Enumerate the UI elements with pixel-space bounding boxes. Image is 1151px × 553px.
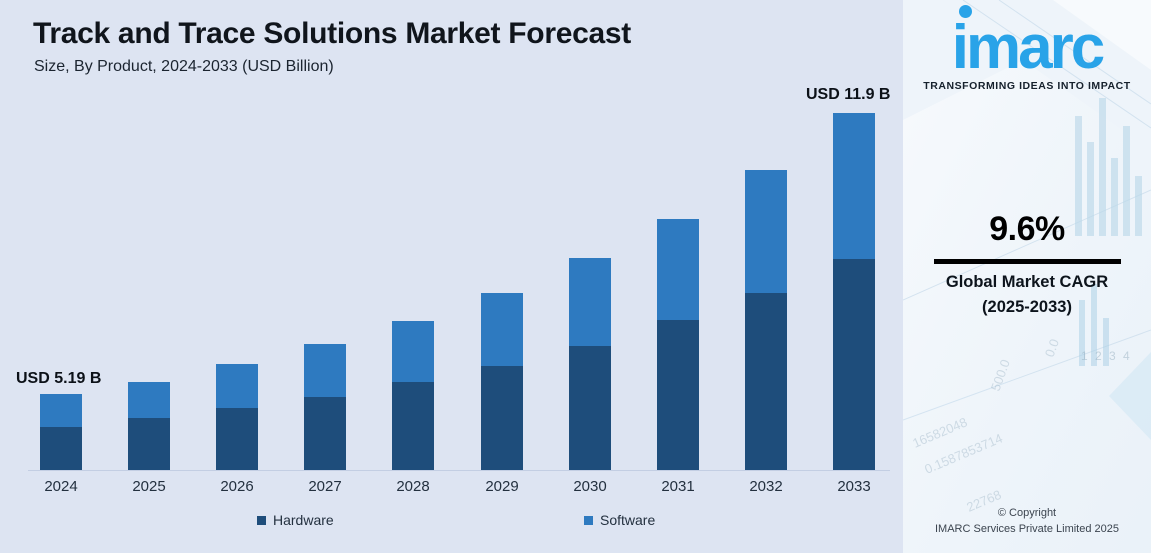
copyright-line-1: © Copyright xyxy=(903,505,1151,521)
bar-group[interactable] xyxy=(745,170,787,470)
cagr-divider xyxy=(934,259,1121,264)
x-axis-tick-2025: 2025 xyxy=(99,478,199,495)
svg-text:4: 4 xyxy=(1123,349,1130,363)
x-axis-tick-2026: 2026 xyxy=(187,478,287,495)
x-axis-tick-2031: 2031 xyxy=(628,478,728,495)
bar-segment-hardware[interactable] xyxy=(481,366,523,470)
bar-segment-software[interactable] xyxy=(128,382,170,418)
legend-swatch-hardware-icon xyxy=(257,516,266,525)
copyright-line-2: IMARC Services Private Limited 2025 xyxy=(903,521,1151,537)
bar-segment-hardware[interactable] xyxy=(40,427,82,470)
bar-group[interactable] xyxy=(569,258,611,470)
bar-segment-software[interactable] xyxy=(40,394,82,427)
bar-group[interactable] xyxy=(833,113,875,470)
bar-segment-software[interactable] xyxy=(392,321,434,382)
bar-group[interactable] xyxy=(481,293,523,470)
x-axis-tick-2024: 2024 xyxy=(11,478,111,495)
cagr-value: 9.6% xyxy=(903,210,1151,249)
bar-segment-hardware[interactable] xyxy=(745,293,787,470)
bar-segment-software[interactable] xyxy=(745,170,787,293)
last-value-annotation: USD 11.9 B xyxy=(806,86,890,104)
cagr-caption-primary: Global Market CAGR xyxy=(903,273,1151,292)
x-axis-tick-2032: 2032 xyxy=(716,478,816,495)
bar-segment-software[interactable] xyxy=(833,113,875,259)
x-axis-tick-2028: 2028 xyxy=(363,478,463,495)
first-value-annotation: USD 5.19 B xyxy=(16,370,101,388)
x-axis-tick-2027: 2027 xyxy=(275,478,375,495)
bar-group[interactable] xyxy=(216,364,258,470)
bar-segment-software[interactable] xyxy=(304,344,346,397)
bar-group[interactable] xyxy=(40,394,82,470)
x-axis-tick-2029: 2029 xyxy=(452,478,552,495)
legend-item-software[interactable]: Software xyxy=(584,512,655,528)
x-axis-tick-2033: 2033 xyxy=(804,478,904,495)
bar-segment-software[interactable] xyxy=(569,258,611,346)
cagr-block: 9.6% Global Market CAGR (2025-2033) xyxy=(903,210,1151,317)
bar-segment-software[interactable] xyxy=(481,293,523,366)
bar-segment-hardware[interactable] xyxy=(569,346,611,470)
bar-segment-hardware[interactable] xyxy=(657,320,699,470)
legend-swatch-software-icon xyxy=(584,516,593,525)
chart-panel: Track and Trace Solutions Market Forecas… xyxy=(0,0,903,553)
infographic-root: Track and Trace Solutions Market Forecas… xyxy=(0,0,1151,553)
copyright-notice: © Copyright IMARC Services Private Limit… xyxy=(903,505,1151,537)
bar-segment-hardware[interactable] xyxy=(216,408,258,470)
brand-panel: 0.1587853714 22768 16582048 500.0 0.0 1 … xyxy=(903,0,1151,553)
x-axis-line xyxy=(28,470,890,471)
bar-group[interactable] xyxy=(392,321,434,470)
bar-group[interactable] xyxy=(128,382,170,470)
bar-segment-software[interactable] xyxy=(657,219,699,320)
bar-segment-hardware[interactable] xyxy=(304,397,346,470)
imarc-logo: imarc TRANSFORMING IDEAS INTO IMPACT xyxy=(903,18,1151,92)
bar-segment-hardware[interactable] xyxy=(128,418,170,470)
chart-plot-area: USD 5.19 B USD 11.9 B 202420252026202720… xyxy=(0,0,903,553)
imarc-logo-text: imarc xyxy=(952,13,1102,82)
chart-legend: Hardware Software xyxy=(0,512,903,536)
imarc-logo-wordmark: imarc xyxy=(952,18,1102,78)
bar-segment-hardware[interactable] xyxy=(833,259,875,470)
bar-segment-software[interactable] xyxy=(216,364,258,408)
x-axis-tick-2030: 2030 xyxy=(540,478,640,495)
legend-label-software: Software xyxy=(600,512,655,528)
cagr-caption-period: (2025-2033) xyxy=(903,298,1151,317)
bar-group[interactable] xyxy=(304,344,346,470)
svg-text:1: 1 xyxy=(1081,349,1088,363)
legend-item-hardware[interactable]: Hardware xyxy=(257,512,334,528)
svg-text:2: 2 xyxy=(1095,349,1102,363)
legend-label-hardware: Hardware xyxy=(273,512,334,528)
svg-text:3: 3 xyxy=(1109,349,1116,363)
imarc-logo-dot-icon xyxy=(959,5,972,18)
bar-segment-hardware[interactable] xyxy=(392,382,434,470)
bar-group[interactable] xyxy=(657,219,699,470)
